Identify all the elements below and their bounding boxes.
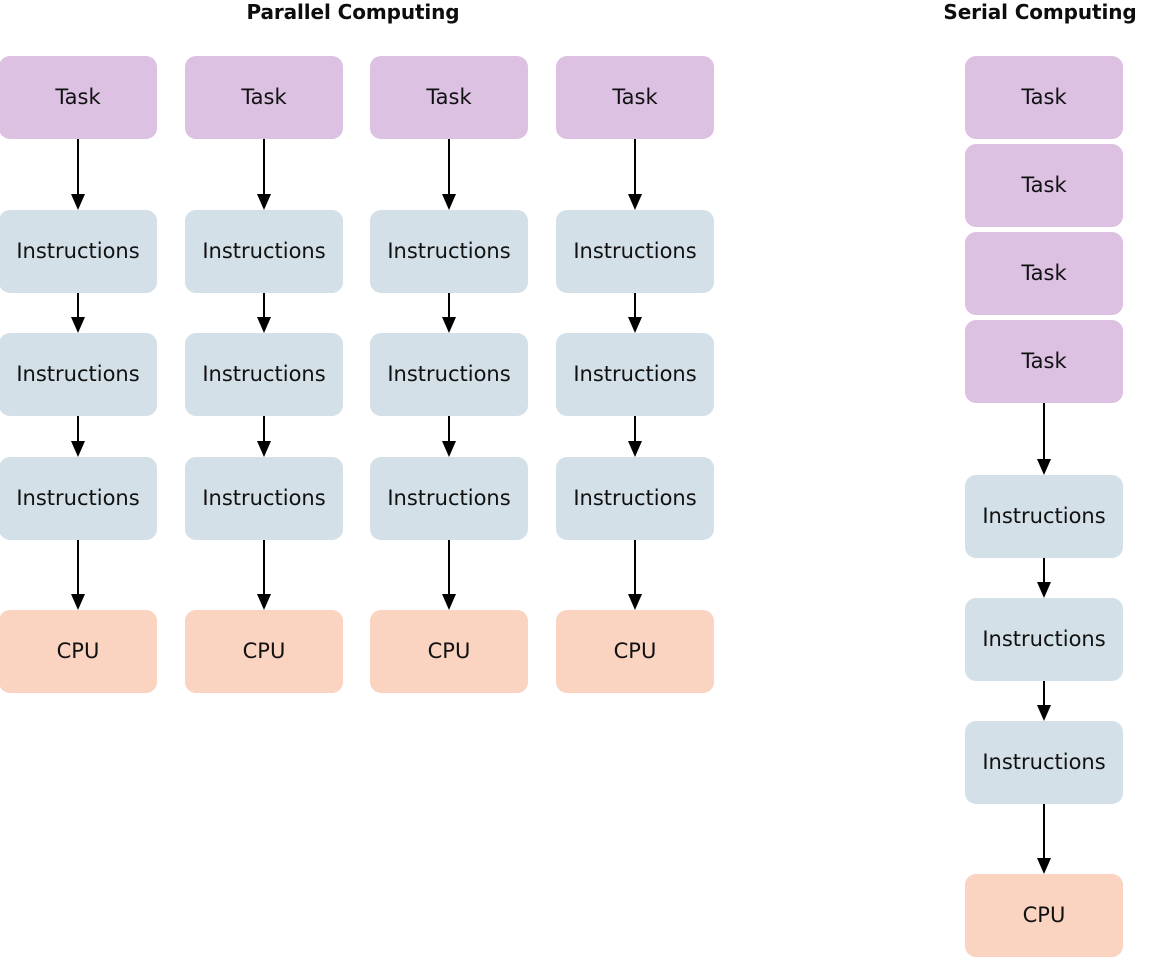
arrow-head-icon [71, 441, 85, 457]
arrow-shaft [1043, 681, 1045, 706]
arrow-head-icon [442, 594, 456, 610]
parallel-col4-instructions-4[interactable]: Instructions [556, 457, 714, 540]
arrow-head-icon [257, 194, 271, 210]
parallel-col3-arrow-2 [441, 293, 457, 333]
arrow-shaft [77, 139, 79, 195]
parallel-col4-arrow-4 [627, 540, 643, 610]
arrow-head-icon [257, 317, 271, 333]
serial-task-1[interactable]: Task [965, 56, 1123, 139]
parallel-col1-arrow-4 [70, 540, 86, 610]
arrow-head-icon [628, 317, 642, 333]
arrow-head-icon [1037, 705, 1051, 721]
node-label: Task [1021, 87, 1066, 108]
arrow-head-icon [442, 441, 456, 457]
node-label: CPU [57, 641, 100, 662]
parallel-col4-arrow-1 [627, 139, 643, 210]
node-label: Task [426, 87, 471, 108]
parallel-col2-instructions-4[interactable]: Instructions [185, 457, 343, 540]
arrow-shaft [263, 293, 265, 318]
node-label: Task [55, 87, 100, 108]
serial-task-4[interactable]: Task [965, 320, 1123, 403]
parallel-col1-arrow-2 [70, 293, 86, 333]
node-label: CPU [614, 641, 657, 662]
arrow-head-icon [442, 317, 456, 333]
node-label: Task [612, 87, 657, 108]
node-label: Instructions [202, 241, 325, 262]
node-label: Instructions [982, 752, 1105, 773]
node-label: Task [1021, 263, 1066, 284]
parallel-col2-arrow-2 [256, 293, 272, 333]
node-label: Instructions [16, 488, 139, 509]
parallel-col2-arrow-1 [256, 139, 272, 210]
arrow-head-icon [442, 194, 456, 210]
parallel-col4-task-1[interactable]: Task [556, 56, 714, 139]
node-label: Instructions [202, 488, 325, 509]
arrow-shaft [263, 139, 265, 195]
node-label: Instructions [16, 364, 139, 385]
arrow-shaft [1043, 403, 1045, 460]
node-label: Instructions [982, 506, 1105, 527]
node-label: Instructions [16, 241, 139, 262]
parallel-col4-arrow-3 [627, 416, 643, 457]
serial-instructions-7[interactable]: Instructions [965, 721, 1123, 804]
node-label: Instructions [573, 241, 696, 262]
parallel-col1-arrow-3 [70, 416, 86, 457]
arrow-shaft [77, 293, 79, 318]
arrow-shaft [634, 139, 636, 195]
parallel-col3-arrow-3 [441, 416, 457, 457]
arrow-shaft [448, 139, 450, 195]
parallel-col1-instructions-4[interactable]: Instructions [0, 457, 157, 540]
arrow-shaft [1043, 558, 1045, 583]
parallel-col4-instructions-3[interactable]: Instructions [556, 333, 714, 416]
parallel-col3-arrow-4 [441, 540, 457, 610]
node-label: Task [241, 87, 286, 108]
serial-instructions-5[interactable]: Instructions [965, 475, 1123, 558]
node-label: CPU [428, 641, 471, 662]
arrow-shaft [448, 540, 450, 595]
arrow-head-icon [257, 594, 271, 610]
parallel-col2-cpu-5[interactable]: CPU [185, 610, 343, 693]
arrow-shaft [634, 416, 636, 442]
arrow-shaft [634, 293, 636, 318]
node-label: CPU [1023, 905, 1066, 926]
arrow-head-icon [1037, 858, 1051, 874]
serial-arrow-4 [1036, 403, 1052, 475]
arrow-head-icon [628, 594, 642, 610]
parallel-col2-task-1[interactable]: Task [185, 56, 343, 139]
serial-arrow-5 [1036, 558, 1052, 598]
parallel-col1-task-1[interactable]: Task [0, 56, 157, 139]
parallel-col2-arrow-4 [256, 540, 272, 610]
parallel-col3-instructions-2[interactable]: Instructions [370, 210, 528, 293]
parallel-col1-instructions-2[interactable]: Instructions [0, 210, 157, 293]
arrow-shaft [1043, 804, 1045, 859]
arrow-head-icon [628, 194, 642, 210]
parallel-col4-instructions-2[interactable]: Instructions [556, 210, 714, 293]
arrow-shaft [77, 540, 79, 595]
node-label: CPU [243, 641, 286, 662]
serial-computing-title: Serial Computing [926, 0, 1154, 24]
arrow-shaft [263, 540, 265, 595]
node-label: Task [1021, 175, 1066, 196]
node-label: Instructions [573, 488, 696, 509]
node-label: Instructions [387, 364, 510, 385]
parallel-computing-title: Parallel Computing [233, 0, 473, 24]
arrow-shaft [448, 293, 450, 318]
node-label: Task [1021, 351, 1066, 372]
parallel-col4-cpu-5[interactable]: CPU [556, 610, 714, 693]
arrow-head-icon [71, 317, 85, 333]
arrow-shaft [634, 540, 636, 595]
parallel-col3-task-1[interactable]: Task [370, 56, 528, 139]
arrow-head-icon [71, 594, 85, 610]
node-label: Instructions [982, 629, 1105, 650]
parallel-col1-arrow-1 [70, 139, 86, 210]
serial-instructions-6[interactable]: Instructions [965, 598, 1123, 681]
parallel-col2-instructions-3[interactable]: Instructions [185, 333, 343, 416]
node-label: Instructions [202, 364, 325, 385]
serial-task-2[interactable]: Task [965, 144, 1123, 227]
arrow-shaft [263, 416, 265, 442]
serial-cpu-8[interactable]: CPU [965, 874, 1123, 957]
serial-task-3[interactable]: Task [965, 232, 1123, 315]
parallel-col2-instructions-2[interactable]: Instructions [185, 210, 343, 293]
node-label: Instructions [387, 241, 510, 262]
parallel-col3-instructions-4[interactable]: Instructions [370, 457, 528, 540]
parallel-col2-arrow-3 [256, 416, 272, 457]
arrow-head-icon [1037, 459, 1051, 475]
arrow-head-icon [71, 194, 85, 210]
parallel-col4-arrow-2 [627, 293, 643, 333]
diagram-canvas: Parallel Computing Serial Computing Task… [0, 0, 1154, 957]
parallel-col3-arrow-1 [441, 139, 457, 210]
serial-arrow-7 [1036, 804, 1052, 874]
node-label: Instructions [387, 488, 510, 509]
parallel-col3-cpu-5[interactable]: CPU [370, 610, 528, 693]
serial-arrow-6 [1036, 681, 1052, 721]
arrow-head-icon [628, 441, 642, 457]
node-label: Instructions [573, 364, 696, 385]
parallel-col3-instructions-3[interactable]: Instructions [370, 333, 528, 416]
parallel-col1-instructions-3[interactable]: Instructions [0, 333, 157, 416]
arrow-head-icon [257, 441, 271, 457]
arrow-shaft [448, 416, 450, 442]
arrow-head-icon [1037, 582, 1051, 598]
arrow-shaft [77, 416, 79, 442]
parallel-col1-cpu-5[interactable]: CPU [0, 610, 157, 693]
